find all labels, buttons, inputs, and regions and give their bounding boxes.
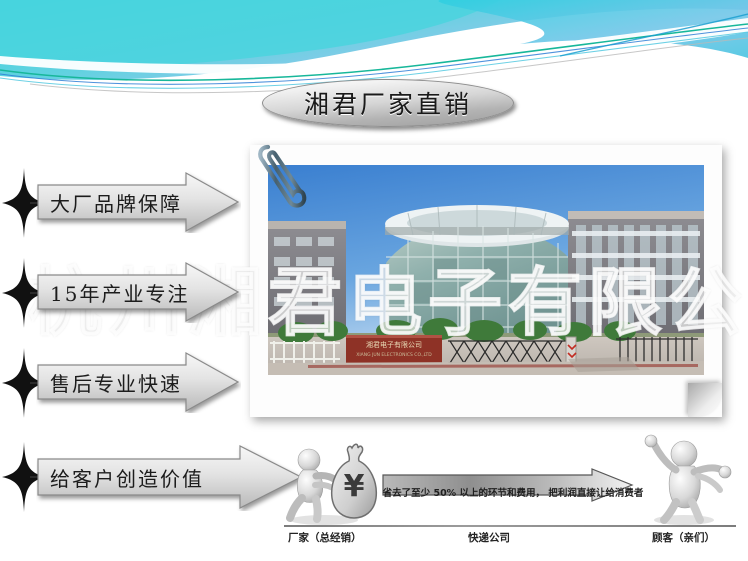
flow-node-label-customer: 顾客（亲们） — [652, 530, 715, 545]
feature-label-2: 15年产业专注 — [50, 261, 189, 323]
feature-arrow-3[interactable]: 售后专业快速 — [36, 351, 241, 413]
slide-title-pill: 湘君厂家直销 — [262, 79, 514, 127]
feature-label-3: 售后专业快速 — [50, 351, 182, 413]
feature-arrow-1[interactable]: 大厂品牌保障 — [36, 171, 241, 233]
flow-node-label-courier: 快递公司 — [468, 530, 510, 545]
svg-text:XIANG JUN ELECTRONICS CO.,LTD: XIANG JUN ELECTRONICS CO.,LTD — [356, 352, 432, 358]
feature-label-4: 给客户创造价值 — [50, 443, 204, 511]
feature-arrow-2[interactable]: 15年产业专注 — [36, 261, 241, 323]
factory-person-moneybag-icon: ¥ — [286, 438, 382, 526]
flow-baseline — [284, 525, 736, 527]
savings-caption: 省去了至少 50% 以上的环节和费用， 把利润直接让给消费者 — [382, 488, 644, 500]
happy-customer-icon — [632, 432, 736, 526]
feature-label-1: 大厂品牌保障 — [50, 171, 182, 233]
flow-node-label-manufacturer: 厂家（总经销） — [288, 530, 362, 545]
page-title: 湘君厂家直销 — [304, 85, 472, 121]
slide-canvas: 湘君厂家直销 — [0, 0, 748, 561]
svg-text:¥: ¥ — [344, 469, 365, 504]
feature-arrow-4[interactable]: 给客户创造价值 — [36, 443, 304, 511]
distribution-flow-diagram: ¥ 省去了至少 50% 以上的环节和费用， 把利润直接让给消费者 — [282, 432, 742, 557]
